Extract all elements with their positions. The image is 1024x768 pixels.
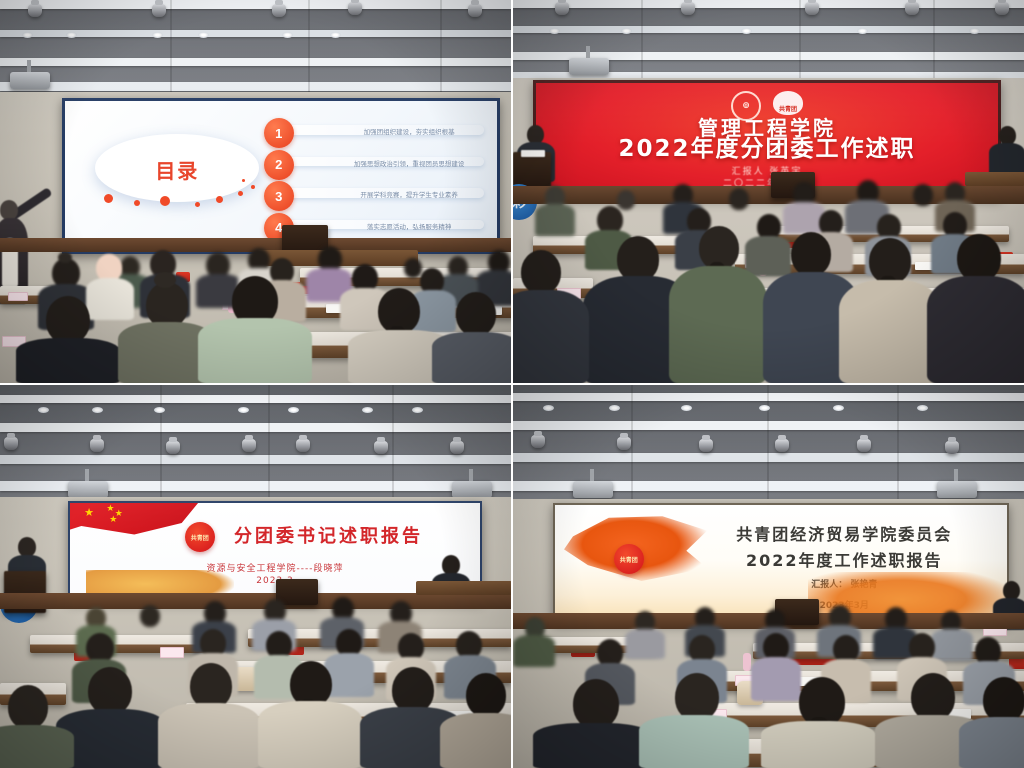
panel-bottom-right: 共青团 共青团经济贸易学院委员会 2022年度工作述职报告 汇报人： 张艳青 2… bbox=[513, 385, 1024, 768]
ceiling-spotlight bbox=[699, 439, 713, 452]
national-flag-icon: ★ ★ ★ ★ bbox=[68, 501, 201, 538]
ceiling-spotlight bbox=[450, 441, 464, 454]
toc-item-number: 3 bbox=[264, 181, 294, 211]
ceiling-projector bbox=[452, 481, 492, 498]
ceiling-spotlight bbox=[296, 439, 310, 452]
toc-item-number: 1 bbox=[264, 118, 294, 148]
ceiling-projector bbox=[68, 481, 108, 498]
ceiling-spotlight bbox=[857, 439, 871, 452]
slide-title-line2: 2022年度分团委工作述职 bbox=[536, 129, 998, 163]
ceiling-spotlight bbox=[90, 439, 104, 452]
ceiling-projector bbox=[573, 481, 613, 498]
slide-title: 分团委书记述职报告 bbox=[234, 522, 423, 548]
ceiling-spotlight bbox=[555, 2, 569, 15]
presentation-screen: 目录 1 加强团组织建设，夯实组织根基 2 加强思想政治引领，重视团员思想建 bbox=[62, 98, 500, 254]
ceiling-spotlight bbox=[166, 441, 180, 454]
ceiling-projector bbox=[10, 72, 50, 89]
ceiling-spotlight bbox=[272, 4, 286, 17]
ceiling-spotlight bbox=[152, 4, 166, 17]
ceiling-spotlight bbox=[28, 4, 42, 17]
toc-heading: 目录 bbox=[121, 155, 233, 184]
ceiling-spotlight bbox=[374, 441, 388, 454]
slide-title-line2: 2022年度工作述职报告 bbox=[691, 547, 998, 571]
ceiling-spotlight bbox=[348, 2, 362, 15]
youth-league-badge-icon: 共青团 bbox=[185, 522, 215, 552]
toc-item-label: 落实志愿活动，弘扬服务精神 bbox=[339, 221, 480, 231]
youth-league-badge-icon: 共青团 bbox=[614, 544, 644, 574]
panel-top-left: 目录 1 加强团组织建设，夯实组织根基 2 加强思想政治引领，重视团员思想建 bbox=[0, 0, 511, 383]
toc-item: 3 开展学科竞赛，提升学生专业素养 bbox=[264, 179, 484, 206]
slide-title-line1: 共青团经济贸易学院委员会 bbox=[691, 521, 998, 545]
ceiling-spotlight bbox=[4, 437, 18, 450]
slide-table-of-contents: 目录 1 加强团组织建设，夯实组织根基 2 加强思想政治引领，重视团员思想建 bbox=[65, 101, 497, 251]
head-table bbox=[965, 172, 1024, 186]
ceiling-spotlight bbox=[805, 2, 819, 15]
toc-item-label: 开展学科竞赛，提升学生专业素养 bbox=[339, 189, 480, 199]
ceiling-spotlight bbox=[617, 437, 631, 450]
head-table bbox=[416, 581, 511, 595]
ceiling-spotlight bbox=[681, 2, 695, 15]
name-card bbox=[8, 292, 28, 301]
toc-item-label: 加强团组织建设，夯实组织根基 bbox=[339, 126, 480, 136]
slide-reporter: 汇报人 张英宇 bbox=[536, 164, 998, 177]
ceiling-projector bbox=[569, 58, 609, 75]
toc-item: 2 加强思想政治引领，重视团员思想建设 bbox=[264, 148, 484, 175]
toc-item: 1 加强团组织建设，夯实组织根基 bbox=[264, 116, 484, 143]
toc-item-label: 加强思想政治引领，重视团员思想建设 bbox=[339, 158, 480, 168]
ceiling-spotlight bbox=[468, 4, 482, 17]
ceiling-spotlight bbox=[995, 2, 1009, 15]
ceiling-spotlight bbox=[775, 439, 789, 452]
name-card bbox=[160, 647, 184, 658]
panel-top-right: ⊚ 共青团 管理工程学院 2022年度分团委工作述职 汇报人 张英宇 二〇二二年… bbox=[513, 0, 1024, 383]
ceiling-spotlight bbox=[242, 439, 256, 452]
photo-collage: 目录 1 加强团组织建设，夯实组织根基 2 加强思想政治引领，重视团员思想建 bbox=[0, 0, 1024, 768]
ceiling-spotlight bbox=[905, 2, 919, 15]
ceiling-spotlight bbox=[531, 435, 545, 448]
water-bottle bbox=[743, 653, 751, 671]
ceiling-projector bbox=[937, 481, 977, 498]
slide-red-banner: ⊚ 共青团 管理工程学院 2022年度分团委工作述职 汇报人 张英宇 二〇二二年… bbox=[536, 83, 998, 195]
presentation-screen: ⊚ 共青团 管理工程学院 2022年度分团委工作述职 汇报人 张英宇 二〇二二年… bbox=[533, 80, 1001, 198]
ceiling-spotlight bbox=[945, 441, 959, 454]
panel-bottom-left: ★ ★ ★ ★ 共青团 分团委书记述职报告 资源与安全工程学院----段晓萍 2… bbox=[0, 385, 511, 768]
toc-item-number: 2 bbox=[264, 150, 294, 180]
